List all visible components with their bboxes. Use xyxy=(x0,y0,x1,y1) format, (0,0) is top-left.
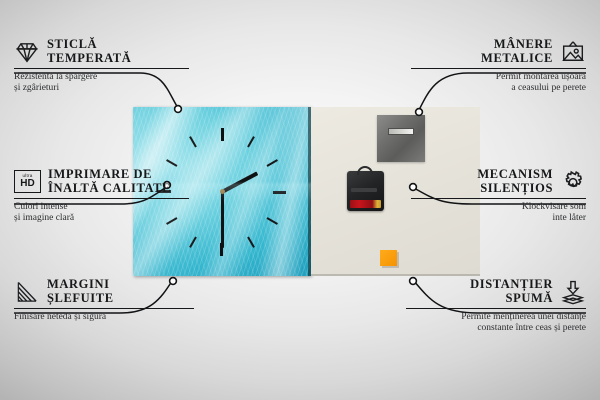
clock-center-cap xyxy=(220,189,225,194)
feature-description: Rezistentă la spargere și zgârieturi xyxy=(14,72,189,94)
feature-description: Permite menținerea unei distanțe constan… xyxy=(406,312,586,334)
hd-badge-hd-label: HD xyxy=(20,179,34,189)
gear-icon xyxy=(560,169,586,195)
diamond-gem-icon xyxy=(14,39,40,65)
polished-edges-icon xyxy=(14,279,40,305)
divider xyxy=(411,198,586,199)
clock-tick xyxy=(222,191,286,193)
mechanism-slot xyxy=(351,188,377,192)
feature-foam-spacer: DISTANȚIER SPUMĂ Permite menținerea unei… xyxy=(406,278,586,334)
feature-print: ultra HD IMPRIMARE DE ÎNALTĂ CALITATE Cu… xyxy=(14,168,189,224)
feature-title: STICLĂ TEMPERATĂ xyxy=(47,38,131,65)
divider xyxy=(14,308,194,309)
metal-hanger-plate xyxy=(377,115,425,162)
feature-silent-mechanism: MECANISM SILENȚIOS Klockvisare som inte … xyxy=(411,168,586,224)
feature-hangers: MÂNERE METALICE Permit montarea ușoară a… xyxy=(411,38,586,94)
feature-title: IMPRIMARE DE ÎNALTĂ CALITATE xyxy=(48,168,171,195)
hanger-slot xyxy=(388,128,414,135)
clock-minute-hand xyxy=(221,192,224,248)
divider xyxy=(411,68,586,69)
feature-description: Permit montarea ușoară a ceasului pe per… xyxy=(411,72,586,94)
feature-description: Culori intense și imagine clară xyxy=(14,202,189,224)
hanging-picture-frame-icon xyxy=(560,39,586,65)
feature-edges: MARGINI ȘLEFUITE Finisare netedă și sigu… xyxy=(14,278,194,323)
clock-mechanism xyxy=(347,171,384,211)
feature-title: DISTANȚIER SPUMĂ xyxy=(470,278,553,305)
battery xyxy=(350,200,381,208)
divider xyxy=(14,198,189,199)
clock-tick xyxy=(221,128,223,192)
foam-spacer-press-icon xyxy=(560,279,586,305)
feature-title: MÂNERE METALICE xyxy=(481,38,553,65)
foam-spacer xyxy=(380,250,397,266)
infographic-canvas: STICLĂ TEMPERATĂ Rezistentă la spargere … xyxy=(0,0,600,400)
mechanism-hanging-loop xyxy=(357,166,373,175)
divider xyxy=(14,68,189,69)
feature-description: Finisare netedă și sigură xyxy=(14,312,194,323)
feature-glass: STICLĂ TEMPERATĂ Rezistentă la spargere … xyxy=(14,38,189,94)
feature-title: MARGINI ȘLEFUITE xyxy=(47,278,114,305)
feature-description: Klockvisare som inte låter xyxy=(411,202,586,224)
ultra-hd-badge-icon: ultra HD xyxy=(14,170,41,193)
feature-title: MECANISM SILENȚIOS xyxy=(477,168,553,195)
divider xyxy=(406,308,586,309)
